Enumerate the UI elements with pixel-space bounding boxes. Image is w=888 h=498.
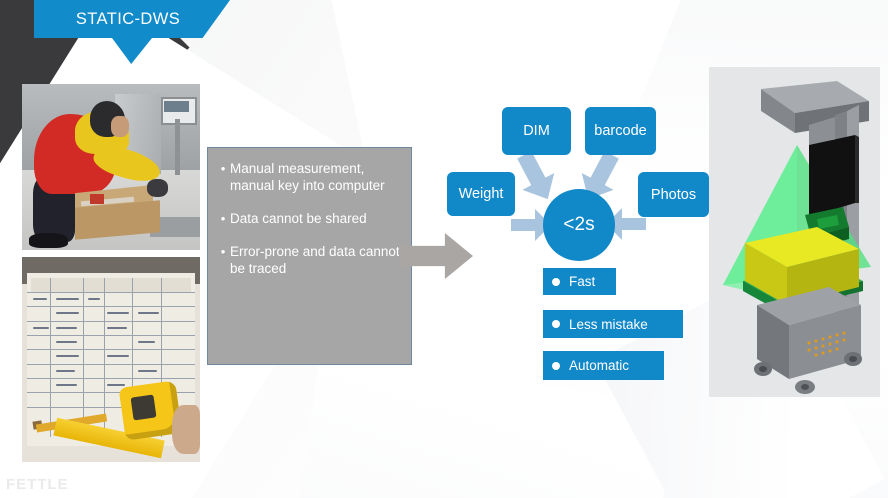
problem-bullet-0: • Manual measurement, manual key into co… [216,160,401,194]
input-chip-label: barcode [594,123,646,139]
benefit-label: Fast [569,274,595,289]
bullet-dot-icon [552,278,560,286]
worker-measuring-box-photo [22,84,200,250]
problem-bullet-text: Manual measurement, manual key into comp… [230,160,401,194]
bullet-dot-icon [552,362,560,370]
slide-canvas: STATIC-DWS [0,0,888,498]
benefit-bar-fast: Fast [543,268,616,295]
input-chip-label: DIM [523,123,550,139]
static-dws-station-render [709,67,880,397]
page-title: STATIC-DWS [34,0,222,38]
form-hand [172,405,200,454]
input-chip-label: Photos [651,187,696,203]
form-handwriting [56,341,77,343]
form-handwriting [107,384,125,386]
input-chip-weight[interactable]: Weight [447,172,515,216]
problem-bullet-text: Error-prone and data cannot be traced [230,243,401,277]
input-chip-barcode[interactable]: barcode [585,107,656,155]
form-handwriting [88,298,100,300]
form-rule [27,335,194,336]
form-column-rule [50,278,51,438]
form-handwriting [56,327,77,329]
form-rule [27,321,194,322]
form-handwriting [138,370,158,372]
form-handwriting [138,341,156,343]
input-chip-label: Weight [459,186,504,202]
form-rule [27,306,194,307]
form-rule [27,349,194,350]
photo-worker-hand [147,179,168,197]
form-column-rule [83,278,84,438]
form-handwriting [33,298,47,300]
form-rule [27,292,194,293]
bullet-point-icon: • [216,210,230,227]
form-handwriting [56,384,77,386]
handwritten-form-photo [22,257,200,462]
benefit-label: Less mistake [569,317,648,332]
watermark: FETTLE [6,476,69,493]
problem-statement-panel: • Manual measurement, manual key into co… [207,147,412,365]
bullet-point-icon: • [216,243,230,277]
problem-bullet-2: • Error-prone and data cannot be traced [216,243,401,277]
photo-worker-face [111,116,129,138]
hub-circle-cycle-time: <2s [543,189,615,261]
form-header-band [31,278,191,292]
hub-label: <2s [563,214,594,236]
problem-bullet-1: • Data cannot be shared [216,210,401,227]
form-rule [27,364,194,365]
photo-scale-pole [175,119,180,175]
problem-bullet-text: Data cannot be shared [230,210,401,227]
input-chip-photos[interactable]: Photos [638,172,709,217]
form-handwriting [56,298,79,300]
bullet-point-icon: • [216,160,230,194]
benefit-bar-automatic: Automatic [543,351,664,380]
form-handwriting [56,370,76,372]
benefit-bar-less-mistake: Less mistake [543,310,683,338]
photo-carton-label [90,194,104,204]
form-handwriting [107,327,127,329]
form-tape-window [131,395,157,421]
input-chip-dim[interactable]: DIM [502,107,571,155]
photo-scale-screen [164,101,189,113]
form-handwriting [33,327,49,329]
photo-worker-shoe [29,233,68,248]
form-rule [27,378,194,379]
bullet-dot-icon [552,320,560,328]
benefit-label: Automatic [569,358,629,373]
